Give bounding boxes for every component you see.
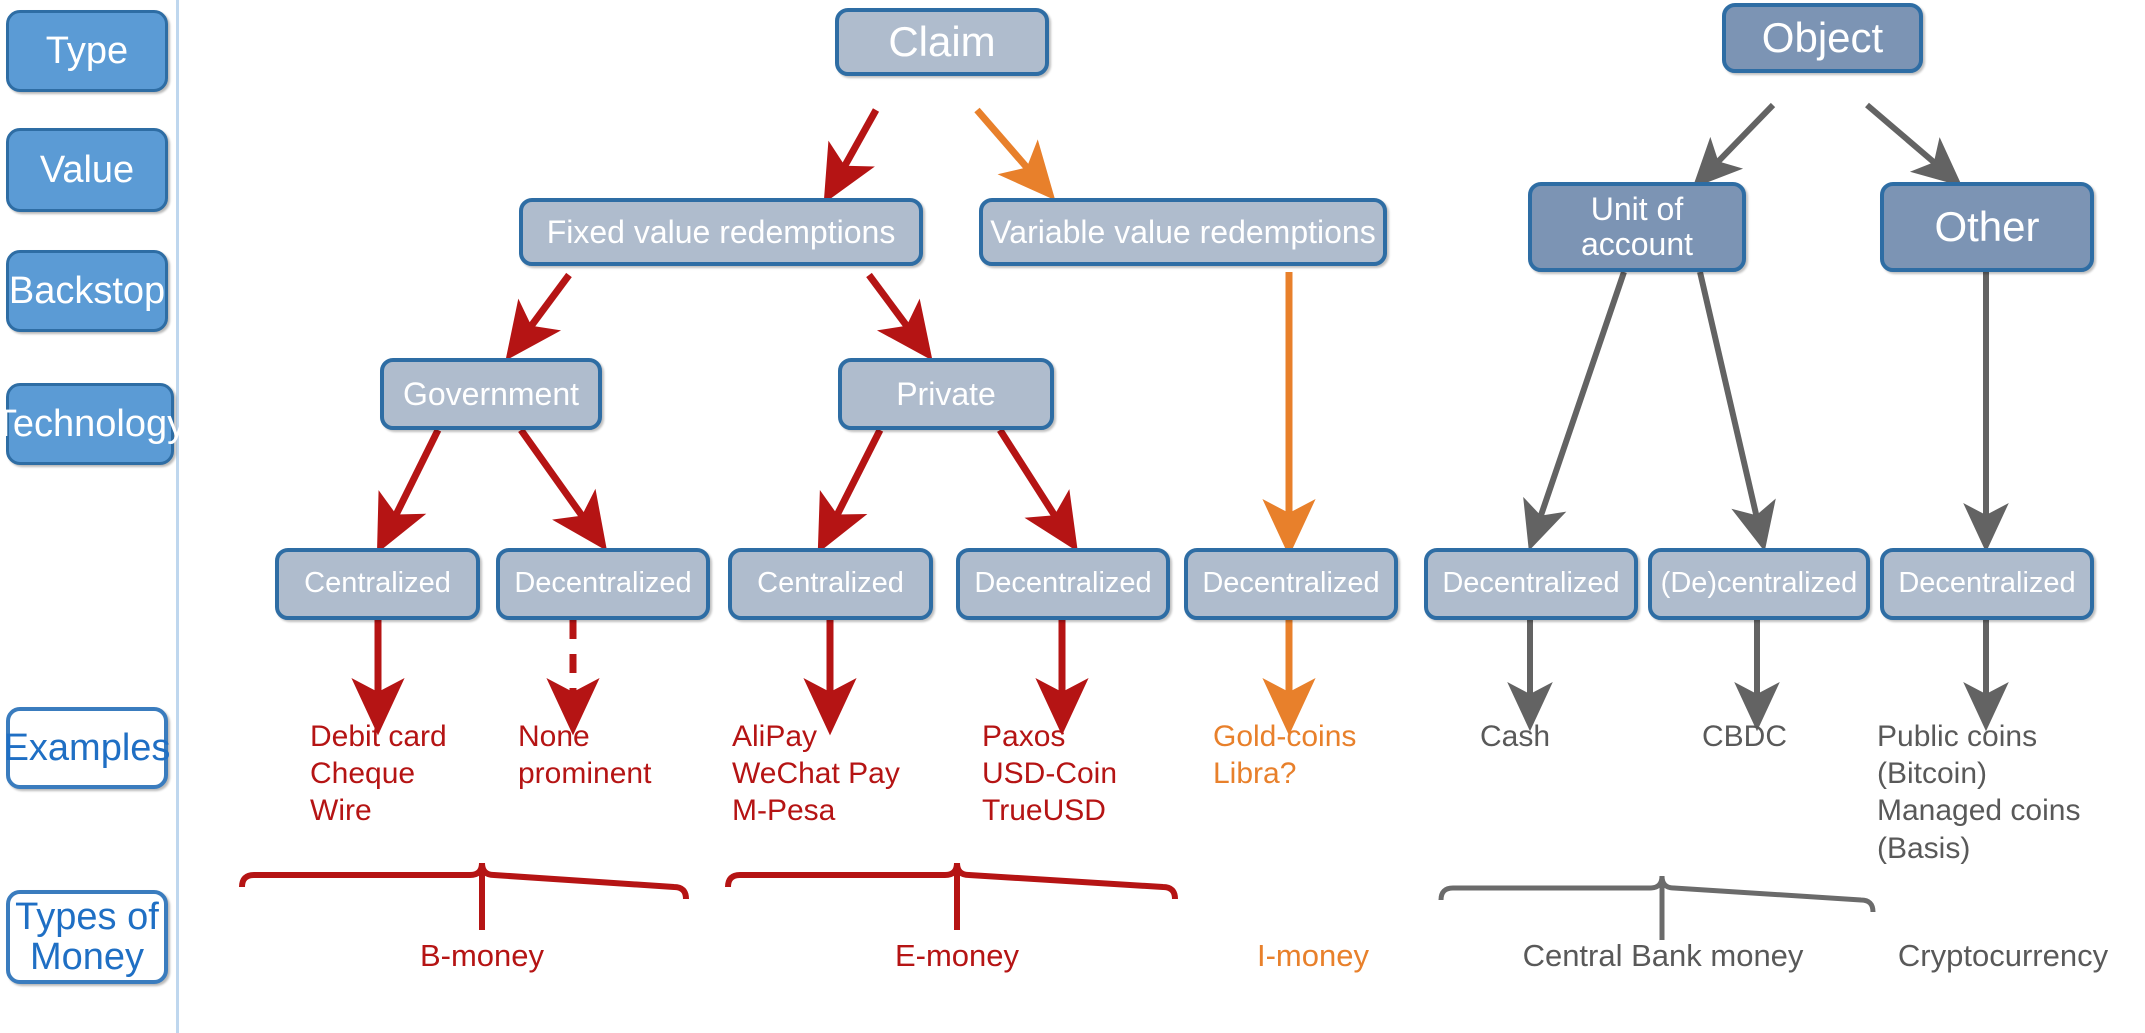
arrow-unit-to-tech7 [1700, 272, 1759, 527]
node-tech-1-label: Centralized [304, 568, 451, 599]
node-fixed-value-redemptions-label: Fixed value redemptions [547, 215, 896, 250]
examples-cash: Cash [1480, 718, 1600, 755]
money-tree-diagram: Type Value Backstop Technology Examples … [0, 0, 2145, 1033]
arrow-object-to-unit [1710, 105, 1773, 170]
money-type-i-money: I-money [1213, 938, 1413, 974]
row-label-technology-text: Technology [0, 404, 186, 444]
node-tech-2[interactable]: Decentralized [496, 548, 710, 620]
brace-cbm [1441, 876, 1873, 912]
node-variable-value-redemptions[interactable]: Variable value redemptions [979, 198, 1387, 266]
row-label-backstop[interactable]: Backstop [6, 250, 168, 332]
node-tech-3-label: Centralized [757, 568, 904, 599]
examples-i-money: Gold-coins Libra? [1213, 718, 1443, 792]
arrow-fixed-to-government [523, 275, 569, 337]
node-claim-label: Claim [888, 19, 995, 64]
arrow-private-to-tech3 [831, 430, 880, 527]
examples-crypto: Public coins (Bitcoin) Managed coins (Ba… [1877, 718, 2142, 867]
node-tech-5[interactable]: Decentralized [1184, 548, 1398, 620]
row-label-value-text: Value [40, 150, 134, 190]
row-label-types-of-money[interactable]: Types of Money [6, 890, 168, 984]
node-tech-7[interactable]: (De)centralized [1648, 548, 1870, 620]
node-tech-6-label: Decentralized [1442, 568, 1619, 599]
examples-b-decentralized: None prominent [518, 718, 733, 792]
arrow-fixed-to-private [869, 275, 915, 337]
node-tech-8-label: Decentralized [1898, 568, 2075, 599]
node-private[interactable]: Private [838, 358, 1054, 430]
node-other[interactable]: Other [1880, 182, 2094, 272]
node-tech-3[interactable]: Centralized [728, 548, 933, 620]
node-object-label: Object [1762, 15, 1883, 60]
node-unit-of-account-label: Unit of account [1581, 192, 1693, 261]
node-tech-8[interactable]: Decentralized [1880, 548, 2094, 620]
arrow-claim-to-variable [977, 110, 1036, 178]
brace-b-money [242, 863, 686, 899]
connector-layer [0, 0, 2145, 1033]
node-other-label: Other [1934, 204, 2039, 249]
node-tech-4-label: Decentralized [974, 568, 1151, 599]
examples-cbdc: CBDC [1702, 718, 1832, 755]
row-label-examples[interactable]: Examples [6, 707, 168, 789]
money-type-cryptocurrency: Cryptocurrency [1869, 938, 2137, 974]
row-label-type-text: Type [46, 31, 128, 71]
money-type-central-bank-money: Central Bank money [1487, 938, 1839, 974]
money-type-e-money: E-money [857, 938, 1057, 974]
arrow-government-to-tech2 [521, 430, 590, 527]
node-object[interactable]: Object [1722, 3, 1923, 73]
node-tech-2-label: Decentralized [514, 568, 691, 599]
arrow-claim-to-fixed [838, 110, 876, 178]
arrow-government-to-tech1 [390, 430, 438, 527]
examples-b-centralized: Debit card Cheque Wire [310, 718, 540, 830]
row-label-value[interactable]: Value [6, 128, 168, 212]
node-tech-4[interactable]: Decentralized [956, 548, 1170, 620]
node-tech-6[interactable]: Decentralized [1424, 548, 1638, 620]
arrow-unit-to-tech6 [1537, 272, 1624, 527]
row-label-examples-text: Examples [4, 728, 171, 768]
arrow-object-to-other [1867, 105, 1943, 170]
brace-e-money [728, 863, 1175, 899]
row-label-technology[interactable]: Technology [6, 383, 174, 465]
node-tech-5-label: Decentralized [1202, 568, 1379, 599]
row-label-types-of-money-text: Types of Money [15, 897, 159, 978]
node-variable-value-redemptions-label: Variable value redemptions [990, 215, 1375, 250]
row-label-type[interactable]: Type [6, 10, 168, 92]
node-tech-1[interactable]: Centralized [275, 548, 480, 620]
node-tech-7-label: (De)centralized [1661, 568, 1858, 599]
node-private-label: Private [896, 377, 996, 412]
label-column-divider [176, 0, 179, 1033]
node-government-label: Government [403, 377, 579, 412]
node-claim[interactable]: Claim [835, 8, 1049, 76]
examples-e-centralized: AliPay WeChat Pay M-Pesa [732, 718, 982, 830]
node-government[interactable]: Government [380, 358, 602, 430]
node-fixed-value-redemptions[interactable]: Fixed value redemptions [519, 198, 923, 266]
node-unit-of-account[interactable]: Unit of account [1528, 182, 1746, 272]
money-type-b-money: B-money [382, 938, 582, 974]
arrow-private-to-tech4 [1000, 430, 1062, 527]
examples-e-decentralized: Paxos USD-Coin TrueUSD [982, 718, 1212, 830]
row-label-backstop-text: Backstop [9, 271, 165, 311]
